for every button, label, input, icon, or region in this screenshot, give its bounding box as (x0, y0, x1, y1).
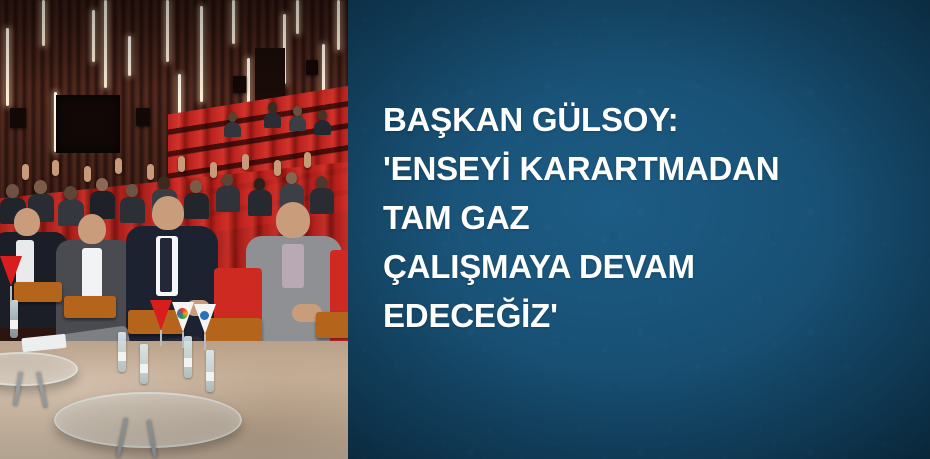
speaker-icon (306, 60, 318, 75)
raised-hand (210, 162, 217, 178)
raised-hand (84, 166, 91, 182)
raised-hand (115, 158, 122, 174)
led-strip-icon (42, 0, 45, 46)
raised-hand (52, 160, 59, 176)
headline-line-4: ÇALIŞMAYA DEVAM (383, 242, 910, 291)
chamber-emblem-pennant (172, 302, 194, 348)
raised-hand (274, 160, 281, 176)
water-bottle (10, 300, 18, 338)
led-strip-icon (104, 0, 107, 88)
led-strip-icon (200, 6, 203, 102)
headline-panel: BAŞKAN GÜLSOY: 'ENSEYİ KARARTMADAN TAM G… (348, 0, 930, 459)
chamber-emblem-pennant (194, 304, 216, 350)
raised-hand (178, 156, 185, 172)
audience-upper (0, 96, 348, 156)
led-strip-icon (128, 36, 131, 76)
raised-hand (147, 164, 154, 180)
headline-line-1: BAŞKAN GÜLSOY: (383, 95, 910, 144)
raised-hand (304, 152, 311, 168)
led-strip-icon (232, 0, 235, 44)
news-photo (0, 0, 348, 459)
led-strip-icon (296, 0, 299, 34)
led-strip-icon (6, 28, 9, 106)
news-card: BAŞKAN GÜLSOY: 'ENSEYİ KARARTMADAN TAM G… (0, 0, 930, 459)
led-strip-icon (166, 0, 169, 62)
raised-hand (242, 154, 249, 170)
led-strip-icon (92, 10, 95, 62)
headline-line-3: TAM GAZ (383, 193, 910, 242)
armrest (316, 312, 348, 338)
chamber-emblem-icon (199, 310, 210, 321)
speaker-icon (233, 76, 246, 93)
bottle-label (10, 320, 18, 329)
turkish-flag-pennant (150, 300, 172, 346)
headline-text: BAŞKAN GÜLSOY: 'ENSEYİ KARARTMADAN TAM G… (383, 95, 910, 340)
headline-line-5: EDECEĞİZ' (383, 291, 910, 340)
turkish-flag-pennant (0, 256, 22, 302)
bottle-label (118, 352, 126, 361)
bottle-label (184, 358, 192, 367)
armrest (64, 296, 116, 318)
chamber-emblem-icon (177, 308, 188, 319)
water-bottle (206, 350, 214, 392)
bottle-label (206, 372, 214, 381)
bottle-label (140, 364, 148, 373)
raised-hand (22, 164, 29, 180)
headline-line-2: 'ENSEYİ KARARTMADAN (383, 144, 910, 193)
led-strip-icon (337, 0, 340, 50)
